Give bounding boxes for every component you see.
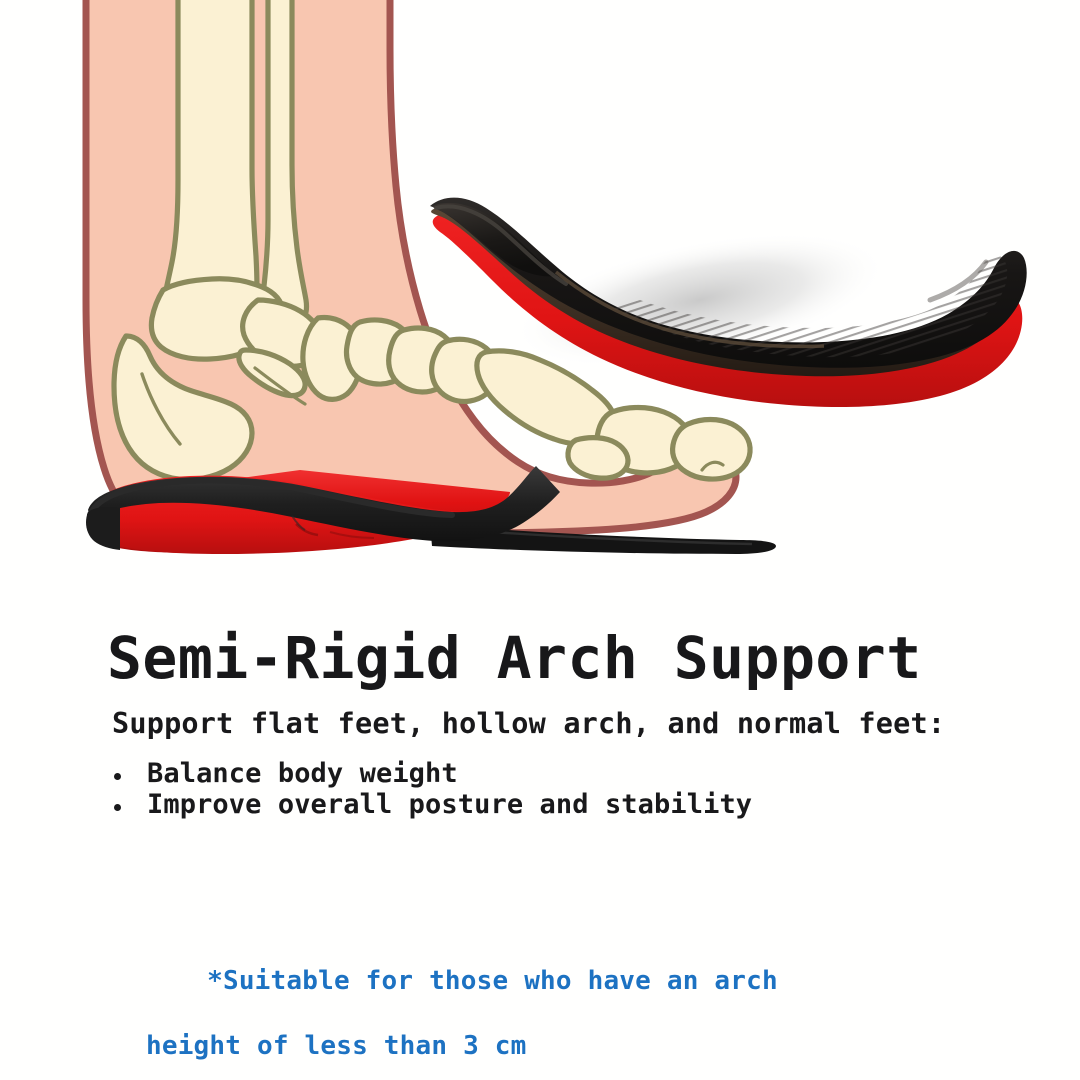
footnote-line-2: height of less than 3 cm [112,1030,778,1062]
benefits-list: Balance body weight Improve overall post… [112,758,752,821]
list-item: Balance body weight [112,758,752,789]
page-title: Semi-Rigid Arch Support [107,628,922,689]
bullet-dot-icon [114,773,121,780]
foot-anatomy-illustration [0,0,1080,615]
list-item-label: Improve overall posture and stability [147,789,752,820]
list-item-label: Balance body weight [147,758,458,789]
product-info-card: Semi-Rigid Arch Support Support flat fee… [0,0,1080,1080]
bullet-dot-icon [114,804,121,811]
list-item: Improve overall posture and stability [112,789,752,820]
subtitle: Support flat feet, hollow arch, and norm… [112,707,945,740]
footnote: *Suitable for those who have an arch hei… [112,933,778,1080]
footnote-line-1: *Suitable for those who have an arch [207,966,778,996]
product-text-block: Semi-Rigid Arch Support Support flat fee… [0,615,1080,1080]
